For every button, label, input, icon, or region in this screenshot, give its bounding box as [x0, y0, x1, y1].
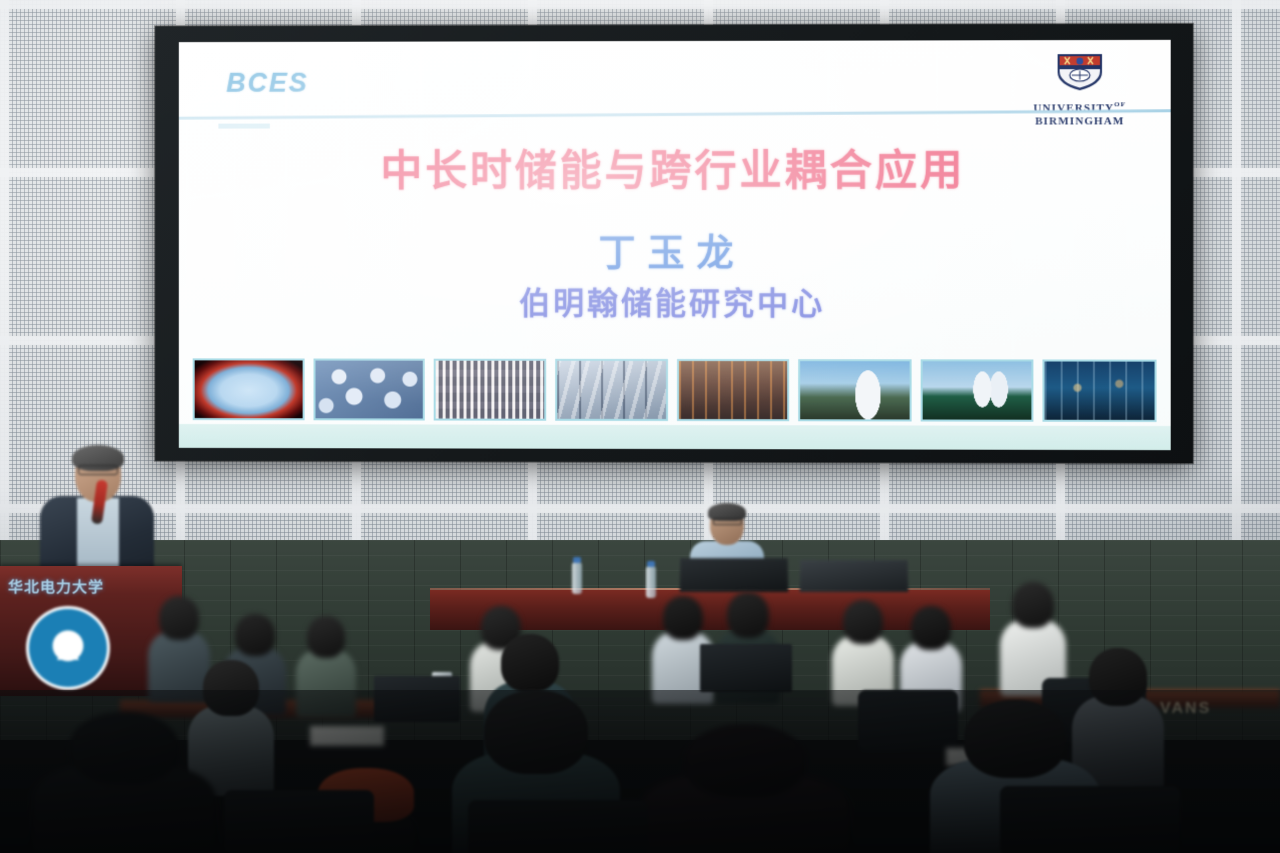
podium-banner-text: 华北电力大学 [8, 576, 144, 597]
university-name-text: UNIVERSITYOF BIRMINGHAM [1015, 100, 1144, 129]
laptop-open [700, 644, 792, 692]
chairperson-glasses [713, 518, 742, 525]
audience-shadow-overlay [0, 690, 1280, 853]
thumb-refinery-night [1043, 359, 1157, 421]
header-divider-accent [218, 124, 269, 129]
thumb-honeycomb-structure [434, 359, 546, 421]
university-of: OF [1114, 100, 1126, 108]
lecture-hall-scene: BCES UNIVERSITYOF BIRMINGHAM [0, 0, 1280, 853]
thumb-microscopy-particle [193, 358, 305, 420]
university-of-birmingham-logo: UNIVERSITYOF BIRMINGHAM [1015, 52, 1144, 129]
water-bottle-2 [646, 566, 656, 598]
thumb-storage-tank [798, 359, 911, 421]
university-emblem-icon [26, 606, 110, 690]
university-line2: BIRMINGHAM [1035, 115, 1124, 127]
thumb-tank-farm [920, 359, 1033, 421]
slide-footer-band [179, 424, 1171, 450]
laptop-chairperson [680, 558, 789, 592]
thumb-industrial-machinery [555, 359, 667, 421]
presenter-glasses [78, 465, 118, 475]
bces-logo: BCES [226, 68, 308, 99]
audience-member [832, 600, 894, 704]
flask-icon [57, 638, 79, 660]
laptop-secondary [800, 560, 909, 592]
thumb-sem-spheres [313, 359, 425, 421]
speaker-organization: 伯明翰储能研究中心 [179, 278, 1171, 324]
speaker-name: 丁玉龙 [179, 223, 1171, 277]
slide-title: 中长时储能与跨行业耦合应用 [179, 136, 1171, 198]
thumb-plant-interior [676, 359, 789, 421]
water-bottle-1 [572, 562, 582, 594]
projection-screen-frame: BCES UNIVERSITYOF BIRMINGHAM [155, 24, 1193, 464]
thumbnail-strip [193, 358, 1157, 422]
university-crest-icon [1054, 52, 1106, 92]
presentation-slide: BCES UNIVERSITYOF BIRMINGHAM [179, 40, 1171, 450]
